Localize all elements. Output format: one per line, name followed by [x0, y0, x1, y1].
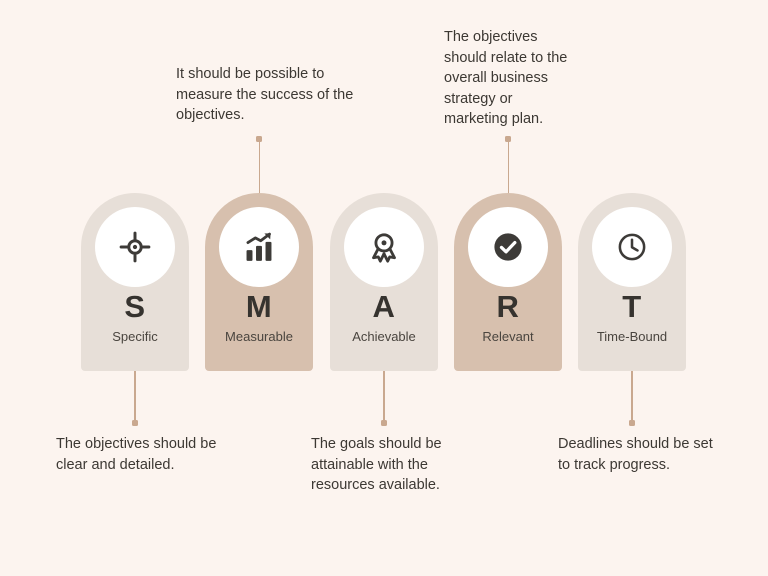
smart-goals-infographic: It should be possible to measure the suc… [0, 0, 768, 576]
connector-dot-specific [132, 420, 138, 426]
bar-chart-growth-icon [242, 230, 276, 264]
connector-line-achievable [383, 371, 385, 423]
icon-circle-achievable [344, 207, 424, 287]
pillar-word-achievable: Achievable [330, 330, 438, 343]
icon-circle-measurable [219, 207, 299, 287]
pillar-specific[interactable]: S Specific [81, 193, 189, 371]
pillar-word-measurable: Measurable [205, 330, 313, 343]
pillar-time-bound[interactable]: T Time-Bound [578, 193, 686, 371]
pillar-letter-relevant: R [454, 291, 562, 322]
pillar-relevant[interactable]: R Relevant [454, 193, 562, 371]
pillar-achievable[interactable]: A Achievable [330, 193, 438, 371]
callout-relevant: The objectives should relate to the over… [444, 27, 599, 130]
connector-dot-relevant [505, 136, 511, 142]
pillar-letter-time-bound: T [578, 291, 686, 322]
callout-specific: The objectives should be clear and detai… [56, 434, 266, 475]
pillar-word-time-bound: Time-Bound [578, 330, 686, 343]
icon-circle-relevant [468, 207, 548, 287]
connector-dot-achievable [381, 420, 387, 426]
pillar-letter-achievable: A [330, 291, 438, 322]
pillar-letter-measurable: M [205, 291, 313, 322]
crosshair-target-icon [118, 230, 152, 264]
connector-line-specific [134, 371, 136, 423]
pillar-word-relevant: Relevant [454, 330, 562, 343]
connector-dot-measurable [256, 136, 262, 142]
pillar-word-specific: Specific [81, 330, 189, 343]
connector-dot-time-bound [629, 420, 635, 426]
callout-time-bound: Deadlines should be set to track progres… [558, 434, 768, 475]
icon-circle-specific [95, 207, 175, 287]
check-circle-icon [491, 230, 525, 264]
pillar-measurable[interactable]: M Measurable [205, 193, 313, 371]
icon-circle-time-bound [592, 207, 672, 287]
callout-measurable: It should be possible to measure the suc… [176, 64, 391, 126]
clock-icon [616, 231, 648, 263]
award-medal-icon [367, 230, 401, 264]
connector-line-time-bound [631, 371, 633, 423]
pillar-letter-specific: S [81, 291, 189, 322]
callout-achievable: The goals should be attainable with the … [311, 434, 511, 496]
